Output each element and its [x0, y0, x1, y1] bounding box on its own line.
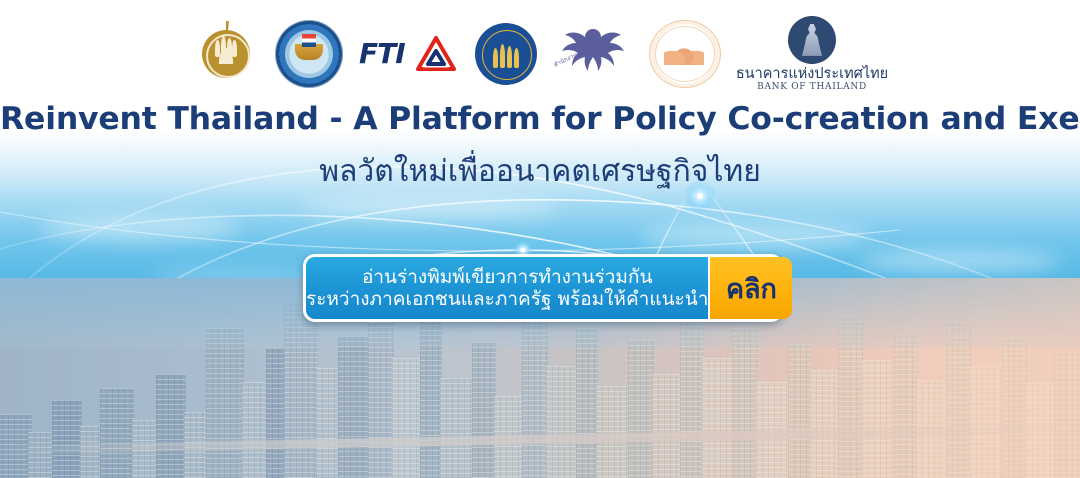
- reinvent-thailand-banner: FTI สำนักงานเศรษฐกิจการ: [0, 0, 1080, 478]
- cta-line-2: ระหว่างภาคเอกชนและภาครัฐ พร้อมให้คำแนะนำ: [306, 288, 708, 310]
- bank-of-thailand-name-english: BANK OF THAILAND: [757, 82, 867, 92]
- cta-message-panel[interactable]: อ่านร่างพิมพ์เขียวการทำงานร่วมกัน ระหว่า…: [306, 257, 708, 319]
- fti-triangle-icon: [415, 34, 457, 74]
- page-subtitle-thai: พลวัตใหม่เพื่ออนาคตเศรษฐกิจไทย: [0, 148, 1080, 195]
- fiscal-policy-office-logo: สำนักงานเศรษฐกิจการคลัง: [553, 21, 633, 87]
- board-of-trade-logo: [275, 20, 343, 88]
- bank-of-thailand-logo: ธนาคารแห่งประเทศไทย BANK OF THAILAND: [737, 16, 887, 92]
- cta-line-1: อ่านร่างพิมพ์เขียวการทำงานร่วมกัน: [362, 266, 652, 288]
- cta-click-button[interactable]: คลิก: [710, 257, 792, 319]
- nesdc-logo: [649, 20, 721, 88]
- garuda-icon: สำนักงานเศรษฐกิจการคลัง: [553, 21, 633, 87]
- bank-of-thailand-name-thai: ธนาคารแห่งประเทศไทย: [736, 67, 888, 82]
- fti-logo: FTI: [359, 28, 459, 80]
- fti-logo-text: FTI: [359, 37, 405, 70]
- thai-bankers-association-logo: [475, 23, 537, 85]
- cta-banner[interactable]: อ่านร่างพิมพ์เขียวการทำงานร่วมกัน ระหว่า…: [303, 254, 783, 322]
- page-title: Reinvent Thailand - A Platform for Polic…: [0, 101, 1080, 137]
- ministry-of-industry-logo: [193, 21, 259, 87]
- bank-of-thailand-seal-icon: [788, 16, 836, 64]
- partner-logo-row: FTI สำนักงานเศรษฐกิจการ: [0, 14, 1080, 94]
